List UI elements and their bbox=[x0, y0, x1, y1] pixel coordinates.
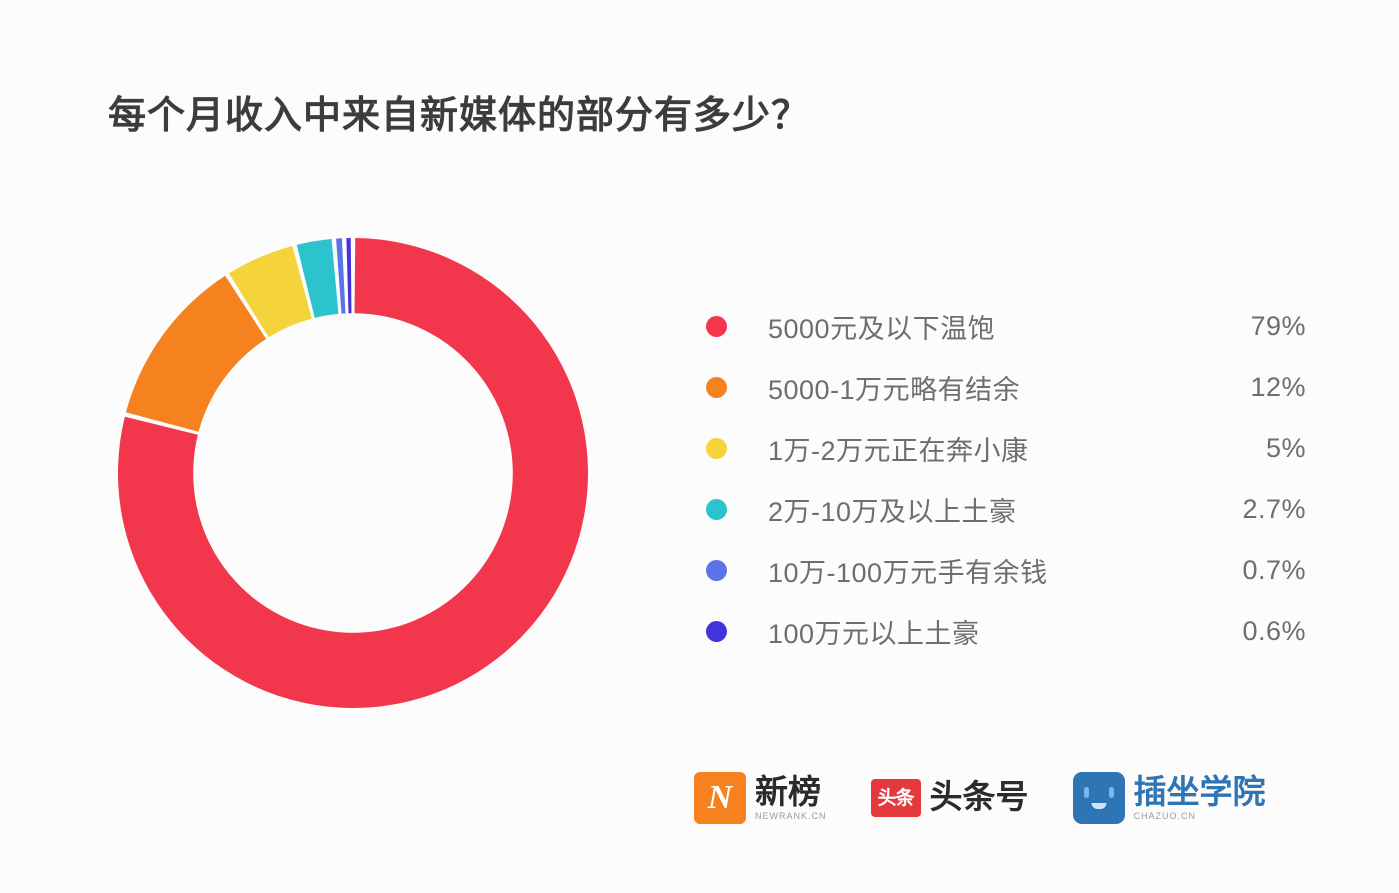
legend-color-swatch-icon bbox=[706, 316, 727, 337]
donut-chart bbox=[116, 236, 590, 710]
chazuo-mark-icon bbox=[1073, 772, 1125, 824]
legend-item-value: 5% bbox=[1146, 433, 1306, 464]
legend-color-swatch-icon bbox=[706, 621, 727, 642]
chazuo-eye-right bbox=[1109, 787, 1114, 798]
chazuo-sub: CHAZUO.CN bbox=[1134, 811, 1266, 821]
page-title: 每个月收入中来自新媒体的部分有多少？ bbox=[108, 84, 810, 139]
chazuo-face-icon bbox=[1082, 787, 1116, 809]
footer-logos: N 新榜 NEWRANK.CN 头条 头条号 插坐学院 CHAZUO.CN bbox=[694, 772, 1266, 824]
legend-item[interactable]: 1万-2万元正在奔小康5% bbox=[706, 418, 1306, 479]
legend-item-label: 10万-100万元手有余钱 bbox=[768, 551, 1048, 590]
legend-color-swatch-icon bbox=[706, 377, 727, 398]
toutiaohao-glyph: 头条 bbox=[878, 789, 914, 808]
donut-chart-svg bbox=[116, 236, 590, 710]
legend-item-value: 0.6% bbox=[1146, 616, 1306, 647]
legend-color-swatch-icon bbox=[706, 560, 727, 581]
legend-item-label: 2万-10万及以上土豪 bbox=[768, 490, 1017, 529]
legend-item[interactable]: 2万-10万及以上土豪2.7% bbox=[706, 479, 1306, 540]
toutiaohao-mark-icon: 头条 bbox=[871, 779, 921, 817]
legend-item-label: 100万元以上土豪 bbox=[768, 612, 980, 651]
legend-item-label: 1万-2万元正在奔小康 bbox=[768, 429, 1029, 468]
legend-item[interactable]: 100万元以上土豪0.6% bbox=[706, 601, 1306, 662]
logo-newrank: N 新榜 NEWRANK.CN bbox=[694, 772, 827, 824]
newrank-name: 新榜 bbox=[755, 775, 827, 810]
newrank-glyph: N bbox=[708, 781, 733, 815]
legend-item[interactable]: 10万-100万元手有余钱0.7% bbox=[706, 540, 1306, 601]
legend-color-swatch-icon bbox=[706, 499, 727, 520]
newrank-text: 新榜 NEWRANK.CN bbox=[755, 775, 827, 822]
chart-legend: 5000元及以下温饱79%5000-1万元略有结余12%1万-2万元正在奔小康5… bbox=[706, 296, 1306, 662]
chazuo-text: 插坐学院 CHAZUO.CN bbox=[1134, 775, 1266, 822]
legend-item-label: 5000-1万元略有结余 bbox=[768, 368, 1020, 407]
legend-item-value: 12% bbox=[1146, 372, 1306, 403]
legend-item-value: 2.7% bbox=[1146, 494, 1306, 525]
toutiaohao-name: 头条号 bbox=[930, 780, 1029, 815]
donut-slice[interactable] bbox=[346, 238, 351, 313]
legend-item[interactable]: 5000元及以下温饱79% bbox=[706, 296, 1306, 357]
legend-item-value: 0.7% bbox=[1146, 555, 1306, 586]
logo-toutiaohao: 头条 头条号 bbox=[871, 779, 1029, 817]
newrank-mark-icon: N bbox=[694, 772, 746, 824]
logo-chazuo: 插坐学院 CHAZUO.CN bbox=[1073, 772, 1266, 824]
chazuo-eye-left bbox=[1084, 787, 1089, 798]
donut-slice[interactable] bbox=[336, 238, 345, 313]
chazuo-mouth bbox=[1091, 803, 1106, 809]
legend-item[interactable]: 5000-1万元略有结余12% bbox=[706, 357, 1306, 418]
donut-slice-group bbox=[118, 238, 588, 708]
chazuo-name: 插坐学院 bbox=[1134, 775, 1266, 810]
toutiaohao-text: 头条号 bbox=[930, 780, 1029, 817]
legend-item-value: 79% bbox=[1146, 311, 1306, 342]
legend-item-label: 5000元及以下温饱 bbox=[768, 307, 995, 346]
newrank-sub: NEWRANK.CN bbox=[755, 811, 827, 821]
legend-color-swatch-icon bbox=[706, 438, 727, 459]
